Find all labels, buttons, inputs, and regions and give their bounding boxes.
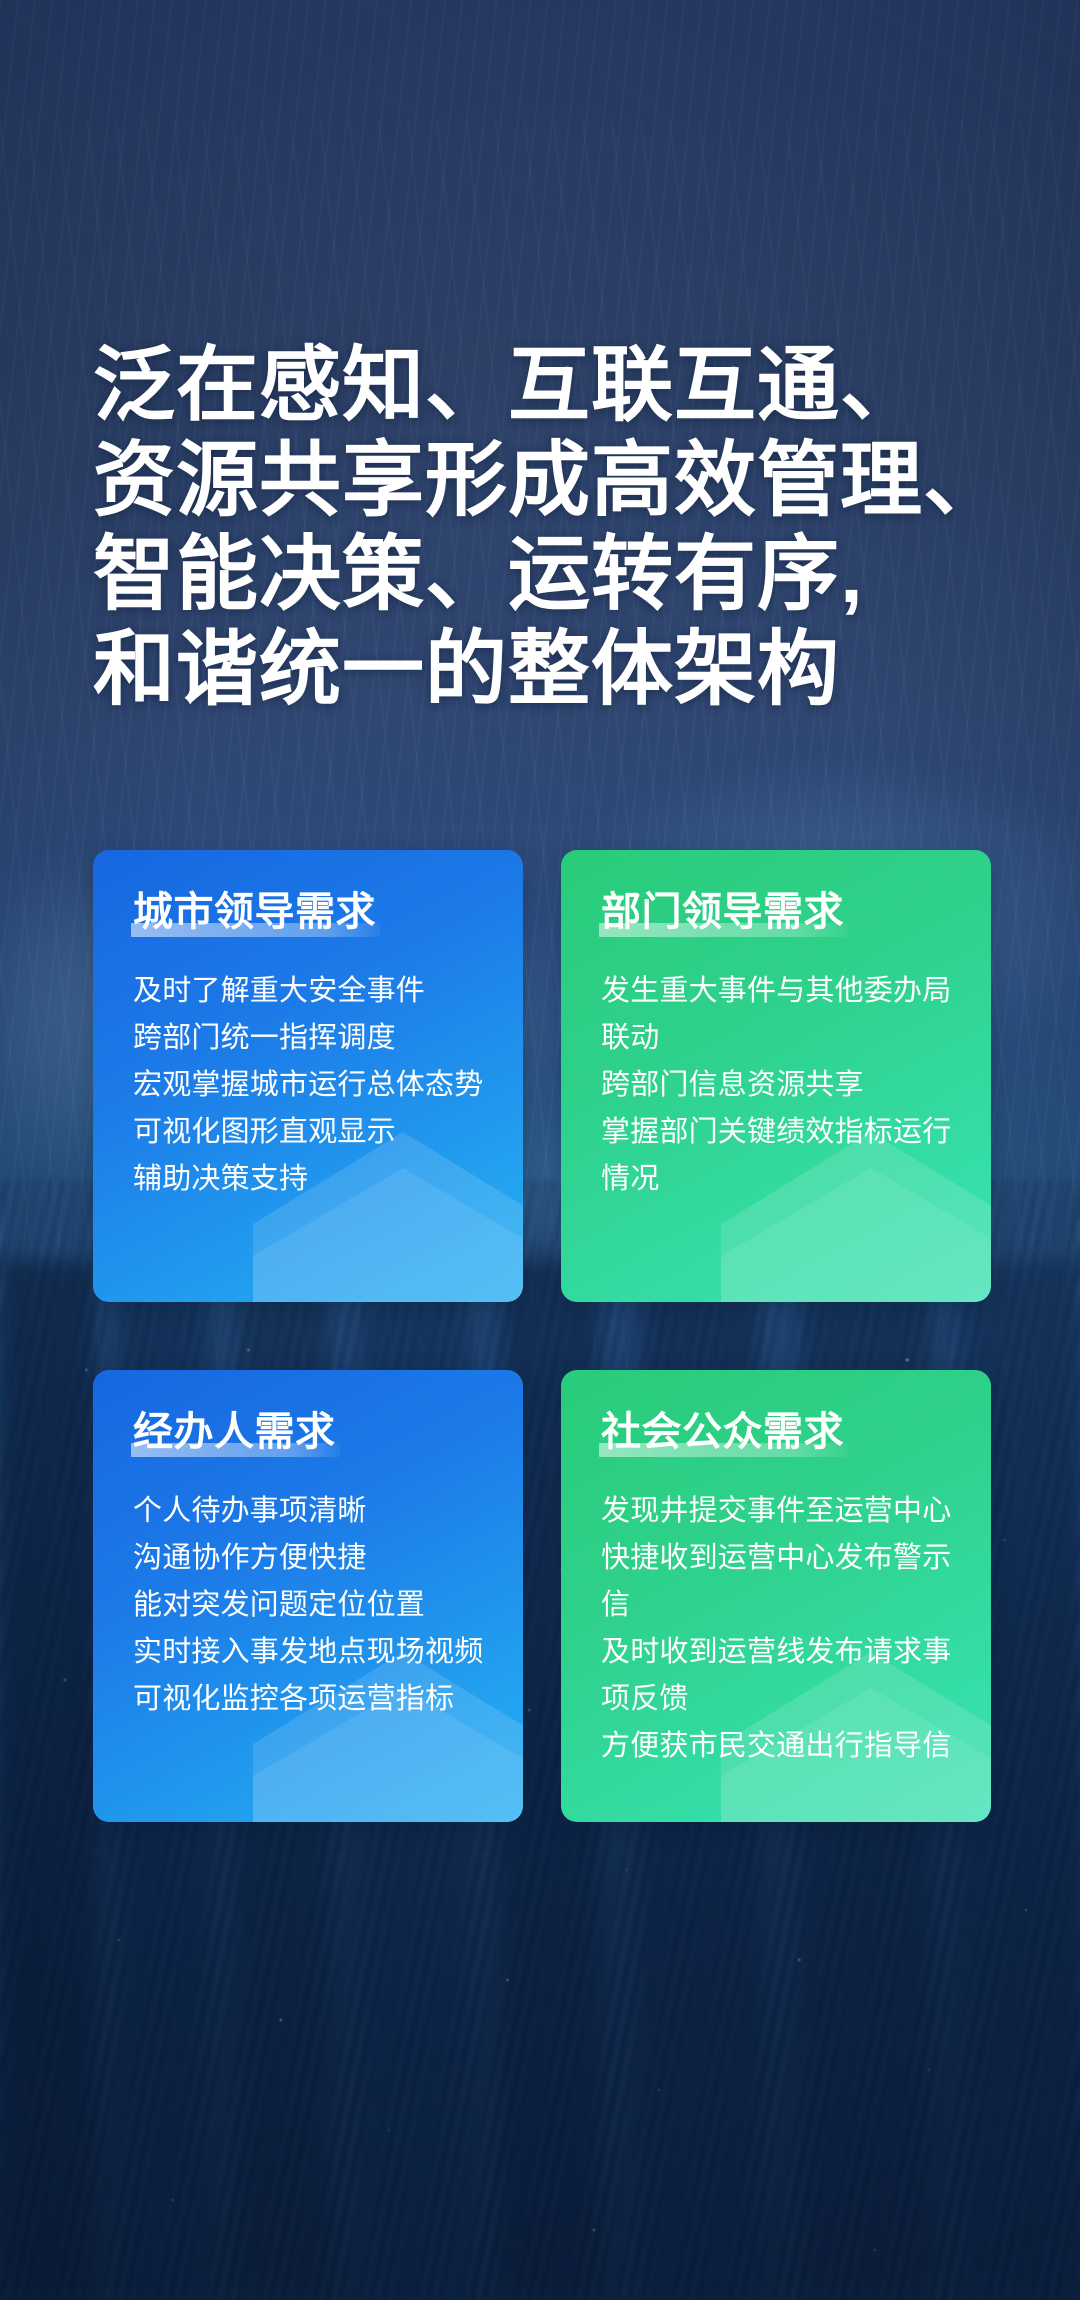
- card-title-text: 城市领导需求: [133, 890, 376, 934]
- list-item: 个人待办事项清晰: [133, 1488, 493, 1535]
- list-item: 跨部门信息资源共享: [601, 1062, 961, 1109]
- list-item: 沟通协作方便快捷: [133, 1535, 493, 1582]
- list-item: 及时收到运营线发布请求事项反馈: [601, 1629, 961, 1723]
- list-item: 发生重大事件与其他委办局联动: [601, 968, 961, 1062]
- list-item: 实时接入事发地点现场视频: [133, 1629, 493, 1676]
- list-item: 掌握部门关键绩效指标运行情况: [601, 1109, 961, 1203]
- headline-line-1: 泛在感知、互联互通、: [93, 339, 993, 434]
- poster-root: 泛在感知、互联互通、 资源共享形成高效管理、 智能决策、运转有序, 和谐统一的整…: [0, 0, 1080, 2300]
- card-title-text: 社会公众需求: [601, 1410, 844, 1454]
- list-item: 发现井提交事件至运营中心: [601, 1488, 961, 1535]
- list-item: 能对突发问题定位位置: [133, 1582, 493, 1629]
- card-operator[interactable]: 经办人需求 个人待办事项清晰 沟通协作方便快捷 能对突发问题定位位置 实时接入事…: [93, 1370, 523, 1822]
- card-content: 部门领导需求 发生重大事件与其他委办局联动 跨部门信息资源共享 掌握部门关键绩效…: [561, 850, 991, 1203]
- requirement-card-grid: 城市领导需求 及时了解重大安全事件 跨部门统一指挥调度 宏观掌握城市运行总体态势…: [93, 850, 991, 1822]
- headline-line-4: 和谐统一的整体架构: [93, 623, 993, 718]
- list-item: 辅助决策支持: [133, 1156, 493, 1203]
- list-item: 可视化图形直观显示: [133, 1109, 493, 1156]
- page-title: 泛在感知、互联互通、 资源共享形成高效管理、 智能决策、运转有序, 和谐统一的整…: [93, 339, 993, 718]
- list-item: 及时了解重大安全事件: [133, 968, 493, 1015]
- card-item-list: 发现井提交事件至运营中心 快捷收到运营中心发布警示信 及时收到运营线发布请求事项…: [601, 1488, 961, 1770]
- card-content: 经办人需求 个人待办事项清晰 沟通协作方便快捷 能对突发问题定位位置 实时接入事…: [93, 1370, 523, 1723]
- card-title: 部门领导需求: [601, 890, 844, 934]
- list-item: 跨部门统一指挥调度: [133, 1015, 493, 1062]
- card-item-list: 及时了解重大安全事件 跨部门统一指挥调度 宏观掌握城市运行总体态势 可视化图形直…: [133, 968, 493, 1203]
- card-public[interactable]: 社会公众需求 发现井提交事件至运营中心 快捷收到运营中心发布警示信 及时收到运营…: [561, 1370, 991, 1822]
- card-content: 城市领导需求 及时了解重大安全事件 跨部门统一指挥调度 宏观掌握城市运行总体态势…: [93, 850, 523, 1203]
- card-item-list: 个人待办事项清晰 沟通协作方便快捷 能对突发问题定位位置 实时接入事发地点现场视…: [133, 1488, 493, 1723]
- card-content: 社会公众需求 发现井提交事件至运营中心 快捷收到运营中心发布警示信 及时收到运营…: [561, 1370, 991, 1770]
- card-title-text: 部门领导需求: [601, 890, 844, 934]
- card-title: 城市领导需求: [133, 890, 376, 934]
- list-item: 宏观掌握城市运行总体态势: [133, 1062, 493, 1109]
- list-item: 可视化监控各项运营指标: [133, 1676, 493, 1723]
- card-title: 经办人需求: [133, 1410, 336, 1454]
- list-item: 方便获市民交通出行指导信: [601, 1723, 961, 1770]
- card-department-leader[interactable]: 部门领导需求 发生重大事件与其他委办局联动 跨部门信息资源共享 掌握部门关键绩效…: [561, 850, 991, 1302]
- headline-line-3: 智能决策、运转有序,: [93, 528, 993, 623]
- card-city-leader[interactable]: 城市领导需求 及时了解重大安全事件 跨部门统一指挥调度 宏观掌握城市运行总体态势…: [93, 850, 523, 1302]
- card-title: 社会公众需求: [601, 1410, 844, 1454]
- headline-line-2: 资源共享形成高效管理、: [93, 434, 993, 529]
- card-title-text: 经办人需求: [133, 1410, 336, 1454]
- list-item: 快捷收到运营中心发布警示信: [601, 1535, 961, 1629]
- card-item-list: 发生重大事件与其他委办局联动 跨部门信息资源共享 掌握部门关键绩效指标运行情况: [601, 968, 961, 1203]
